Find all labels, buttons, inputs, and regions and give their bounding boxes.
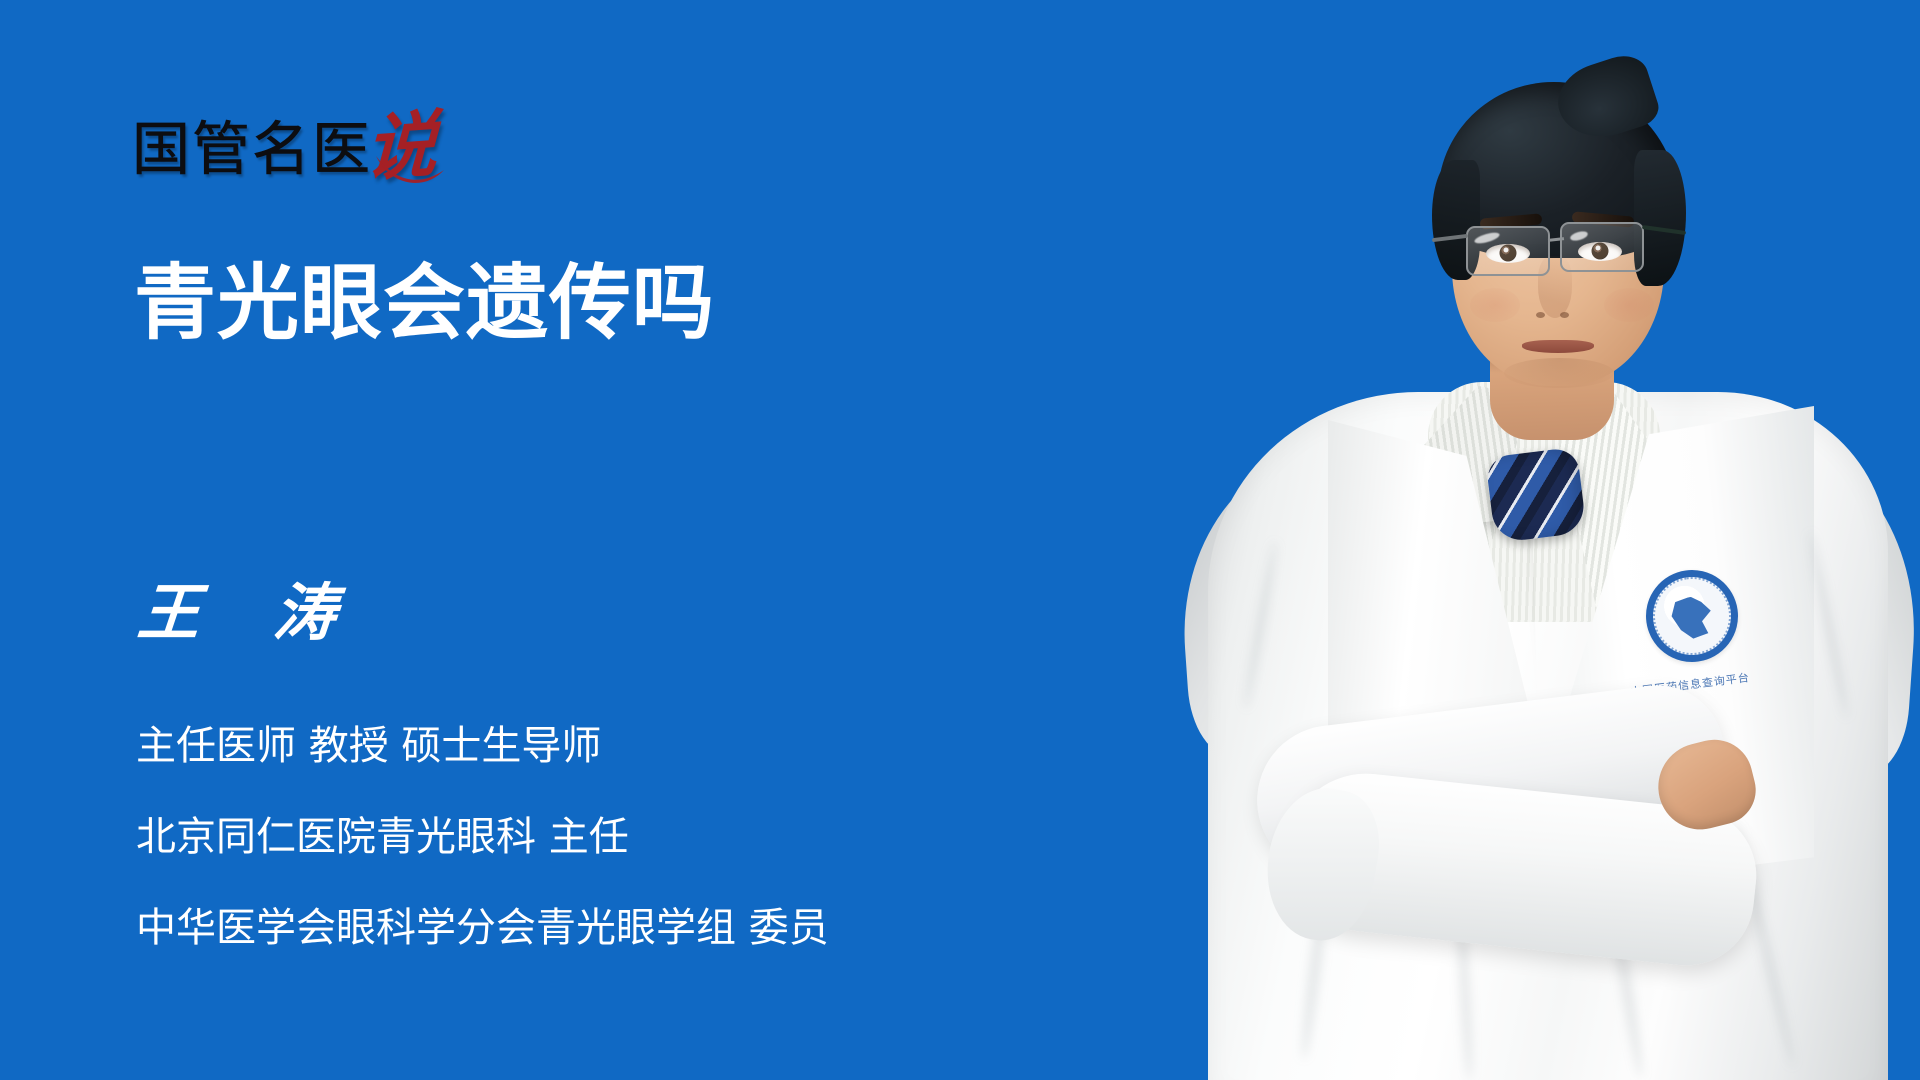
title-card-stage: 国管名医 说 青光眼会遗传吗 王 涛 主任医师 教授 硕士生导师 北京同仁医院青…	[0, 0, 1920, 1080]
necktie-knot	[1485, 447, 1587, 544]
mouth	[1522, 340, 1594, 353]
credential-line: 北京同仁医院青光眼科 主任	[136, 813, 1056, 861]
nostril-right	[1560, 312, 1569, 318]
eyeglasses-lens-left	[1466, 226, 1550, 276]
nostril-left	[1536, 312, 1545, 318]
page-title: 青光眼会遗传吗	[134, 258, 715, 350]
doctor-name: 王 涛	[135, 577, 365, 649]
cheek-left	[1470, 288, 1520, 322]
doctor-credentials: 主任医师 教授 硕士生导师 北京同仁医院青光眼科 主任 中华医学会眼科学分会青光…	[136, 722, 1056, 952]
eyeglasses-lens-right	[1560, 222, 1644, 272]
doctor-portrait-photo: 中国医药信息查询平台	[1160, 0, 1920, 1080]
badge-ring	[1648, 572, 1736, 660]
credential-line: 主任医师 教授 硕士生导师	[136, 722, 1056, 770]
brand-logo-primary-text: 国管名医	[132, 118, 372, 180]
brand-logo: 国管名医 说	[132, 104, 436, 180]
cheek-right	[1604, 288, 1654, 322]
chin-shadow	[1504, 358, 1614, 388]
credential-line: 中华医学会眼科学分会青光眼学组 委员	[136, 904, 1056, 952]
brand-logo-accent-text: 说	[364, 113, 438, 180]
